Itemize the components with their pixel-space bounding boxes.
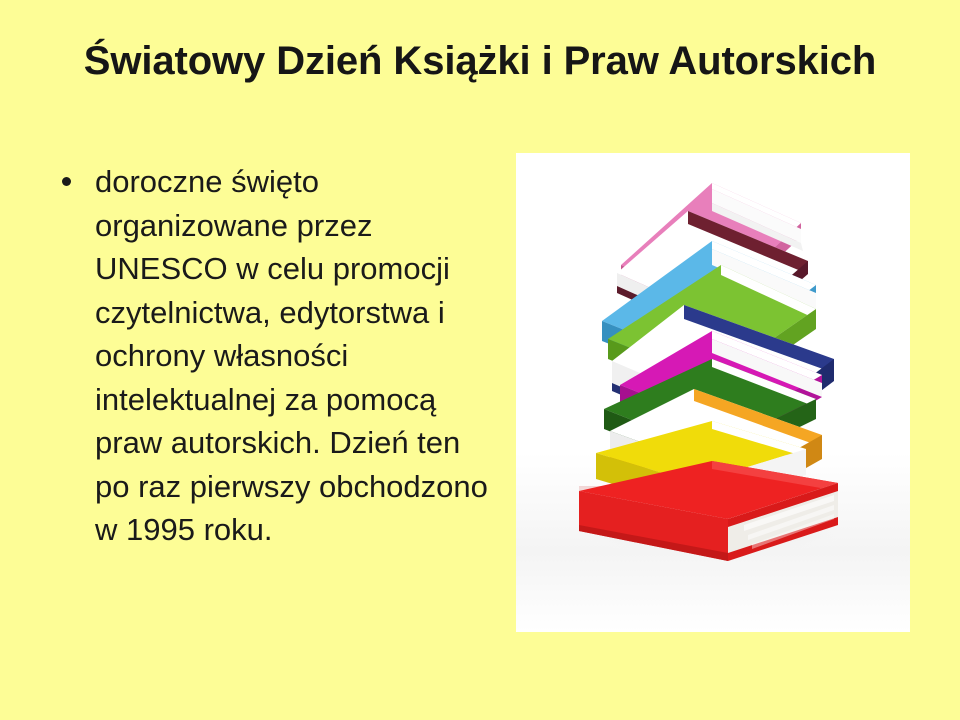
presentation-slide: Światowy Dzień Książki i Praw Autorskich… (0, 0, 960, 720)
picture-placeholder[interactable] (516, 153, 910, 632)
bullet-dot-icon (62, 177, 71, 186)
stack-of-books-image (516, 153, 910, 632)
page-title: Światowy Dzień Książki i Praw Autorskich (60, 34, 900, 88)
list-item: doroczne święto organizowane przez UNESC… (50, 160, 490, 552)
body-content: doroczne święto organizowane przez UNESC… (50, 160, 490, 552)
list-item-text: doroczne święto organizowane przez UNESC… (95, 164, 488, 547)
